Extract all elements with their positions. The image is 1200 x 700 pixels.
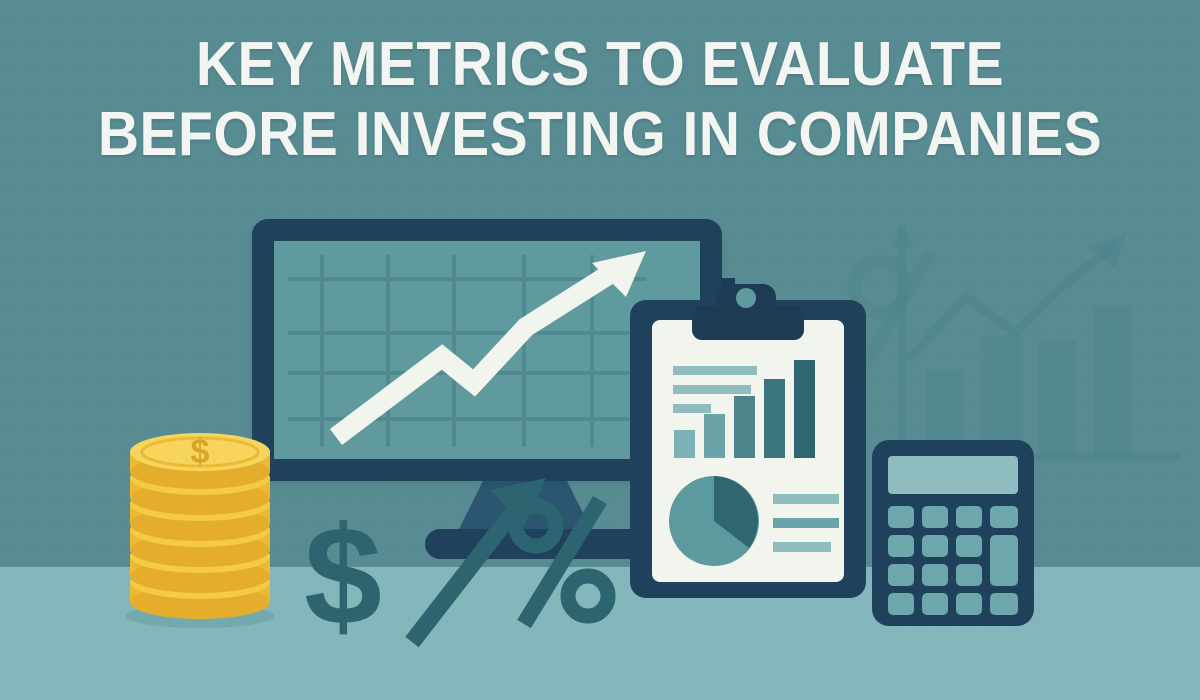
desk-calculator [872, 440, 1042, 630]
calculator-display [888, 456, 1018, 494]
infographic-banner: $ $ [0, 0, 1200, 700]
title-line-2: BEFORE INVESTING IN COMPANIES [48, 100, 1152, 170]
coin-dollar-symbol: $ [191, 433, 210, 471]
title-line-1: KEY METRICS TO EVALUATE [48, 30, 1152, 100]
paper-pie-chart [669, 476, 759, 566]
dollar-sign-icon: $ [297, 512, 389, 640]
svg-text:$: $ [304, 497, 382, 654]
report-clipboard [630, 278, 880, 598]
clipboard-clip [692, 284, 804, 340]
percent-sign-icon [508, 492, 618, 632]
calculator-tall-key [990, 535, 1018, 586]
banner-title: KEY METRICS TO EVALUATE BEFORE INVESTING… [0, 30, 1200, 170]
gold-coin-stack: $ [118, 410, 288, 630]
paper-text-lines-bottom [773, 494, 839, 552]
